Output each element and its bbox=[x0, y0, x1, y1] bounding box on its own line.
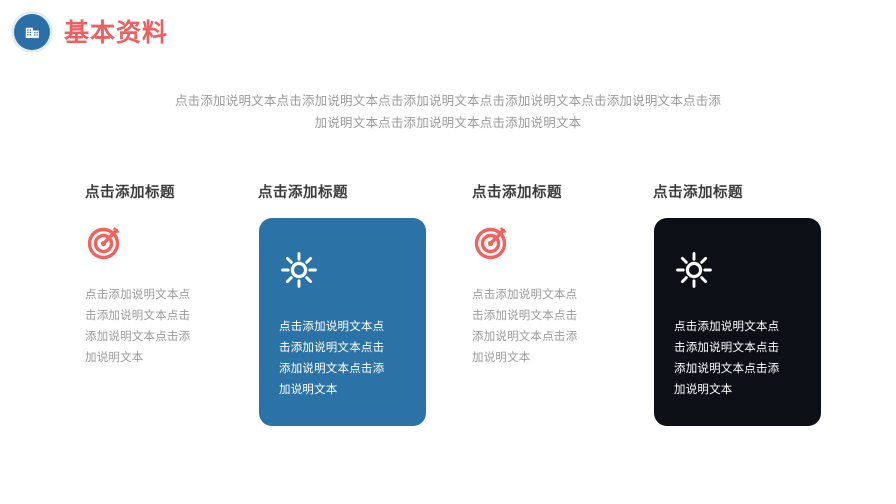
building-icon bbox=[14, 14, 50, 50]
column-1-body: 点击添加说明文本点 击添加说明文本点击 添加说明文本点击添 加说明文本 bbox=[72, 218, 268, 368]
column-1-title: 点击添加标题 bbox=[85, 183, 268, 203]
column-2-body: 点击添加说明文本点 击添加说明文本点击 添加说明文本点击添 加说明文本 bbox=[245, 218, 441, 426]
column-2: 点击添加标题 bbox=[245, 183, 441, 426]
desc-line: 击添加说明文本点击 bbox=[279, 337, 406, 358]
subtitle-line-1: 点击添加说明文本点击添加说明文本点击添加说明文本点击添加说明文本点击添加说明文本… bbox=[148, 90, 748, 112]
card-dark[interactable]: 点击添加说明文本点 击添加说明文本点击 添加说明文本点击添 加说明文本 bbox=[654, 218, 821, 426]
column-2-title: 点击添加标题 bbox=[258, 183, 441, 203]
target-arrow-icon bbox=[472, 218, 642, 266]
column-4-description: 点击添加说明文本点 击添加说明文本点击 添加说明文本点击添 加说明文本 bbox=[674, 316, 801, 400]
column-3-title: 点击添加标题 bbox=[472, 183, 655, 203]
desc-line: 点击添加说明文本点 bbox=[674, 316, 801, 337]
column-1-description: 点击添加说明文本点 击添加说明文本点击 添加说明文本点击添 加说明文本 bbox=[85, 284, 255, 368]
column-3-body: 点击添加说明文本点 击添加说明文本点击 添加说明文本点击添 加说明文本 bbox=[459, 218, 655, 368]
column-4-body: 点击添加说明文本点 击添加说明文本点击 添加说明文本点击添 加说明文本 bbox=[640, 218, 836, 426]
columns-container: 点击添加标题 点击添加说明文本点 击添加说明文本点击 添加说明文本点击添 加说明… bbox=[0, 183, 896, 443]
desc-line: 添加说明文本点击添 bbox=[472, 326, 642, 347]
desc-line: 添加说明文本点击添 bbox=[279, 358, 406, 379]
desc-line: 加说明文本 bbox=[85, 347, 255, 368]
desc-line: 添加说明文本点击添 bbox=[85, 326, 255, 347]
column-4: 点击添加标题 bbox=[640, 183, 836, 426]
desc-line: 点击添加说明文本点 bbox=[279, 316, 406, 337]
sun-icon bbox=[674, 246, 801, 294]
slide-header: 基本资料 bbox=[14, 14, 168, 50]
desc-line: 点击添加说明文本点 bbox=[85, 284, 255, 305]
subtitle-line-2: 加说明文本点击添加说明文本点击添加说明文本 bbox=[148, 112, 748, 134]
desc-line: 添加说明文本点击添 bbox=[674, 358, 801, 379]
desc-line: 点击添加说明文本点 bbox=[472, 284, 642, 305]
target-arrow-icon bbox=[85, 218, 255, 266]
desc-line: 击添加说明文本点击 bbox=[472, 305, 642, 326]
desc-line: 击添加说明文本点击 bbox=[674, 337, 801, 358]
column-4-title: 点击添加标题 bbox=[653, 183, 836, 203]
page-title: 基本资料 bbox=[64, 20, 168, 45]
column-2-description: 点击添加说明文本点 击添加说明文本点击 添加说明文本点击添 加说明文本 bbox=[279, 316, 406, 400]
desc-line: 击添加说明文本点击 bbox=[85, 305, 255, 326]
subtitle-text: 点击添加说明文本点击添加说明文本点击添加说明文本点击添加说明文本点击添加说明文本… bbox=[148, 90, 748, 134]
desc-line: 加说明文本 bbox=[674, 379, 801, 400]
desc-line: 加说明文本 bbox=[279, 379, 406, 400]
column-3-description: 点击添加说明文本点 击添加说明文本点击 添加说明文本点击添 加说明文本 bbox=[472, 284, 642, 368]
desc-line: 加说明文本 bbox=[472, 347, 642, 368]
card-blue[interactable]: 点击添加说明文本点 击添加说明文本点击 添加说明文本点击添 加说明文本 bbox=[259, 218, 426, 426]
column-3: 点击添加标题 点击添加说明文本点 击添加说明文本点击 添加说明文本点击添 加说明… bbox=[459, 183, 655, 368]
column-1: 点击添加标题 点击添加说明文本点 击添加说明文本点击 添加说明文本点击添 加说明… bbox=[72, 183, 268, 368]
sun-icon bbox=[279, 246, 406, 294]
